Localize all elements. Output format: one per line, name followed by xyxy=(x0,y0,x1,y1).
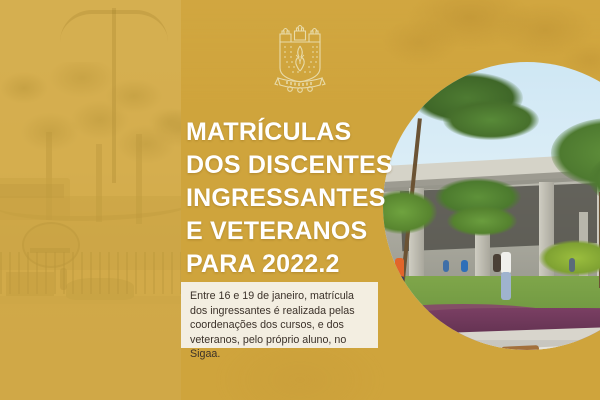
description-text: Entre 16 e 19 de janeiro, matrícula dos … xyxy=(190,289,368,362)
building-speed-bump xyxy=(501,345,539,350)
building-photo-inner xyxy=(383,62,600,350)
campus-entrance-photo xyxy=(0,0,181,400)
banner-canvas: MATRÍCULAS DOS DISCENTES INGRESSANTES E … xyxy=(0,0,600,400)
student-figure xyxy=(501,272,511,300)
headline-line-4: E VETERANOS xyxy=(186,215,386,248)
student-figure xyxy=(569,258,575,272)
trash-bin xyxy=(461,260,468,272)
student-figure xyxy=(501,252,511,274)
campus-building-photo xyxy=(383,62,600,350)
ufpb-coat-of-arms-icon xyxy=(272,22,328,96)
description-box: Entre 16 e 19 de janeiro, matrícula dos … xyxy=(181,282,378,348)
student-figure xyxy=(395,258,404,278)
headline-line-5: PARA 2022.2 xyxy=(186,248,386,281)
student-figure xyxy=(443,260,449,272)
building-tree-canopy xyxy=(443,100,539,140)
headline-line-1: MATRÍCULAS xyxy=(186,116,386,149)
building-tree-canopy xyxy=(447,206,517,236)
page-title: MATRÍCULAS DOS DISCENTES INGRESSANTES E … xyxy=(186,116,386,281)
headline-line-3: INGRESSANTES xyxy=(186,182,386,215)
headline-line-2: DOS DISCENTES xyxy=(186,149,386,182)
student-figure xyxy=(395,276,404,300)
student-backpack xyxy=(493,254,501,272)
entrance-yellow-veil xyxy=(0,0,181,400)
